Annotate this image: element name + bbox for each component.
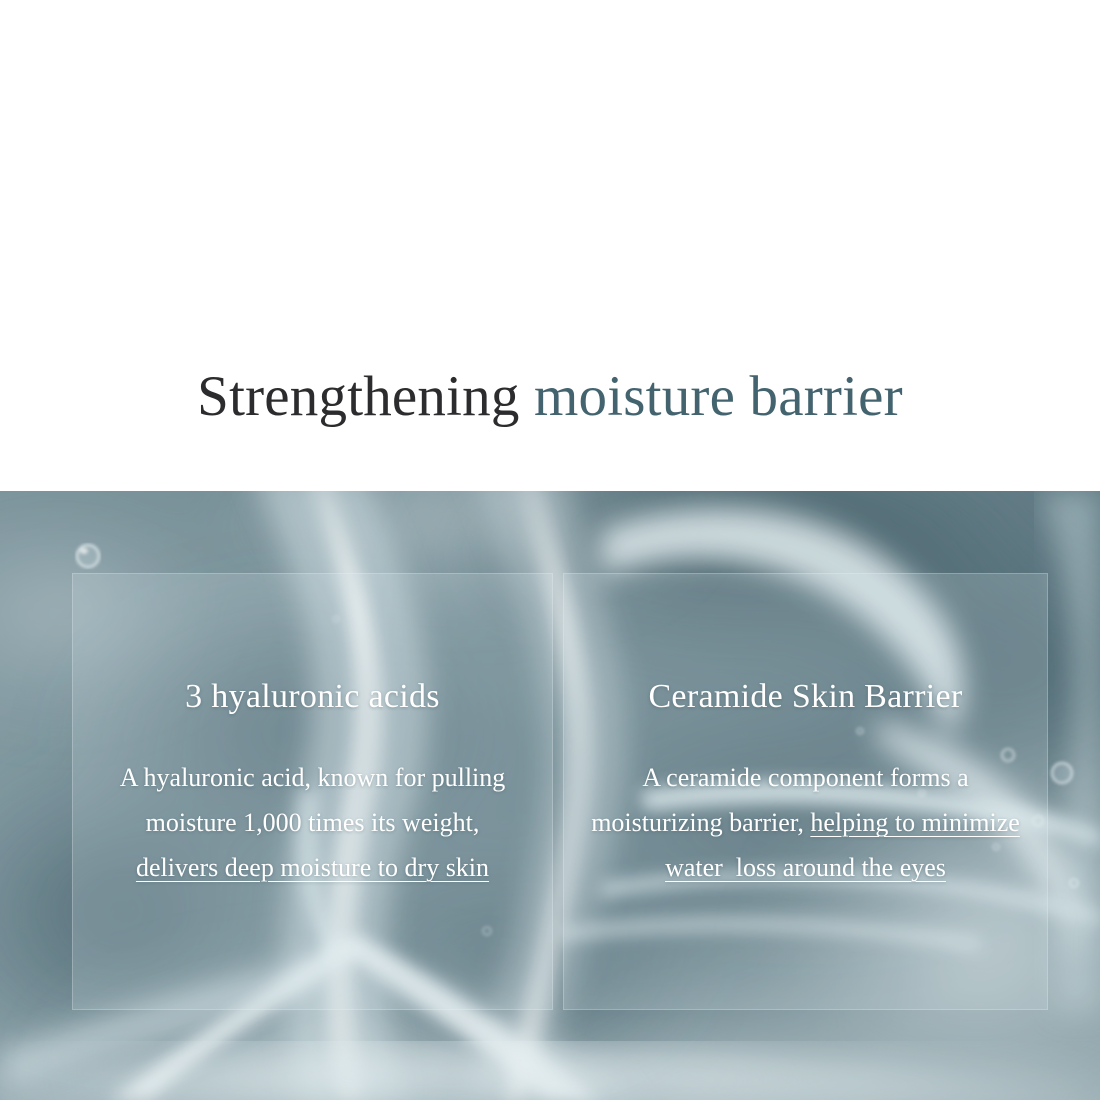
- page-title-primary: Strengthening: [197, 365, 534, 428]
- card-body-line: A ceramide component forms a: [563, 755, 1048, 800]
- card-body-line: water loss around the eyes: [563, 845, 1048, 890]
- page-title: Strengthening moisture barrier: [0, 368, 1100, 425]
- line-plain: A ceramide component forms a: [642, 763, 968, 792]
- card-body-hyaluronic-acids: A hyaluronic acid, known for pulling moi…: [72, 755, 553, 890]
- water-background: 3 hyaluronic acids A hyaluronic acid, kn…: [0, 491, 1100, 1100]
- page-root: Strengthening moisture barrier: [0, 0, 1100, 1100]
- card-body-line: delivers deep moisture to dry skin: [72, 845, 553, 890]
- page-title-accent: moisture barrier: [534, 365, 903, 428]
- line-plain: A hyaluronic acid, known for pulling: [120, 763, 506, 792]
- line-underlined: delivers deep moisture to dry skin: [136, 853, 489, 882]
- card-body-line: A hyaluronic acid, known for pulling: [72, 755, 553, 800]
- card-title-ceramide-skin-barrier: Ceramide Skin Barrier: [563, 678, 1048, 716]
- card-hyaluronic-acids: 3 hyaluronic acids A hyaluronic acid, kn…: [72, 573, 553, 1010]
- card-title-hyaluronic-acids: 3 hyaluronic acids: [72, 678, 553, 716]
- line-plain: moisturizing barrier,: [591, 808, 810, 837]
- card-ceramide-skin-barrier: Ceramide Skin Barrier A ceramide compone…: [563, 573, 1048, 1010]
- card-body-line: moisturizing barrier, helping to minimiz…: [563, 800, 1048, 845]
- card-body-line: moisture 1,000 times its weight,: [72, 800, 553, 845]
- header-band: Strengthening moisture barrier: [0, 0, 1100, 491]
- card-body-ceramide-skin-barrier: A ceramide component forms a moisturizin…: [563, 755, 1048, 890]
- line-underlined: water loss around the eyes: [665, 853, 946, 882]
- line-plain: moisture 1,000 times its weight,: [146, 808, 480, 837]
- line-underlined: helping to minimize: [810, 808, 1019, 837]
